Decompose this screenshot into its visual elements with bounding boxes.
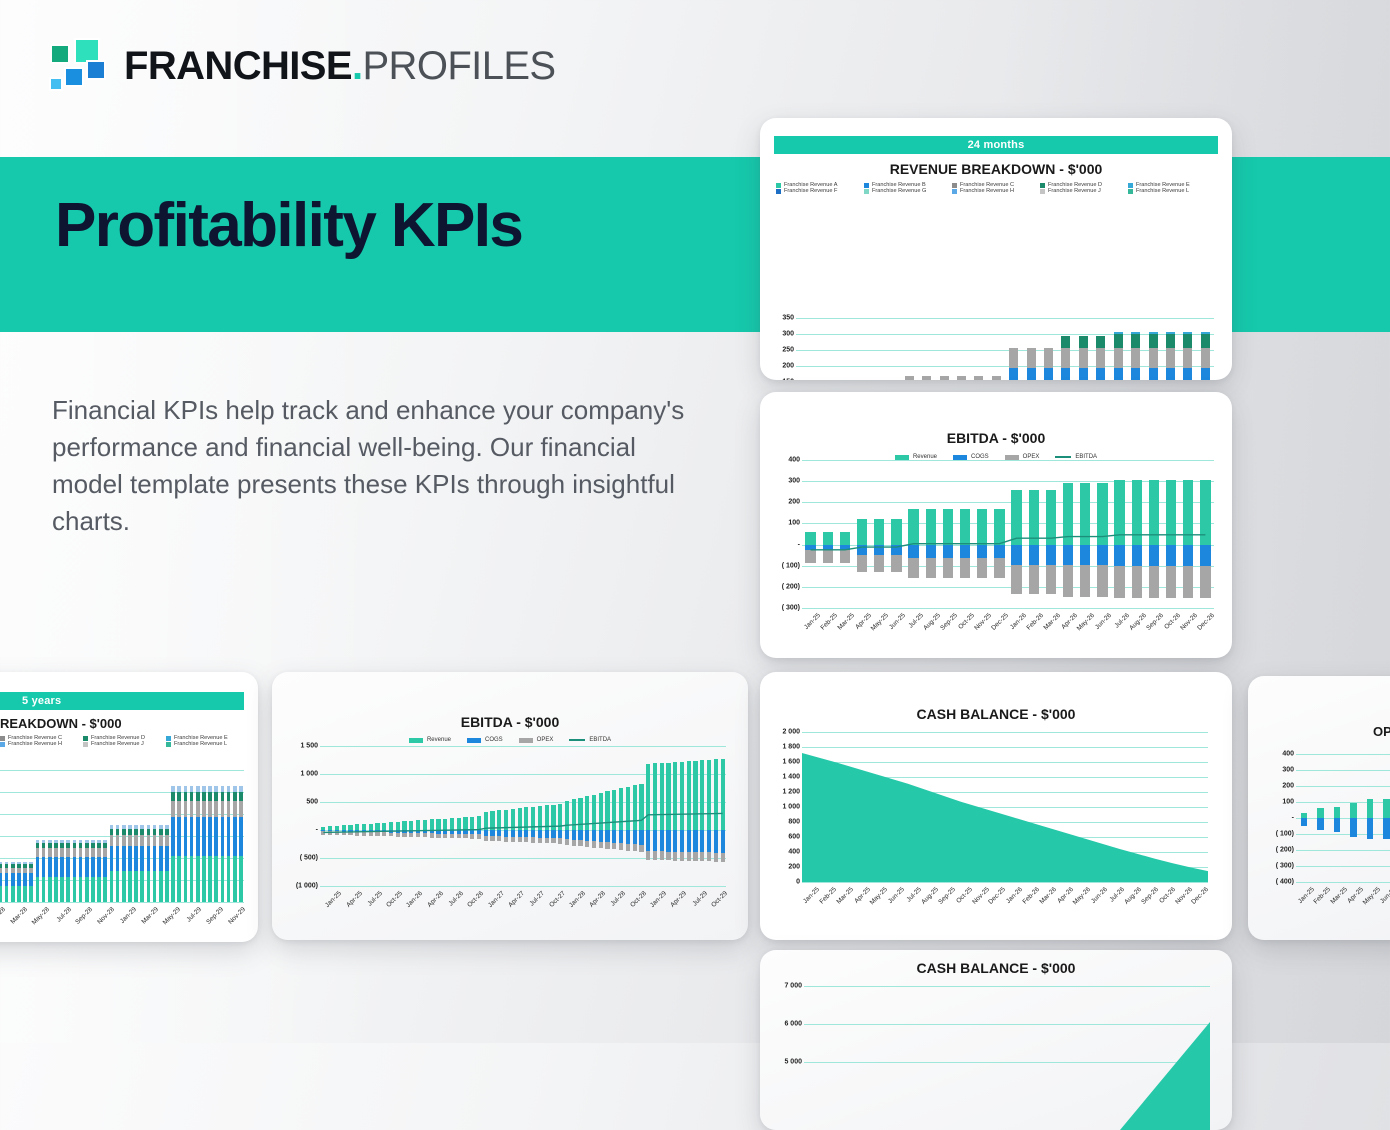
bar-revenue [605,791,609,830]
bar-segment [116,846,120,871]
bar-opex [1097,565,1107,597]
bar-revenue [497,810,501,830]
bar-opex [423,833,427,837]
bar-revenue [857,519,867,544]
bar-segment [190,817,194,855]
bar-segment [239,801,243,817]
bar-revenue [565,801,569,830]
bar-segment [122,871,126,902]
bar-segment [29,873,33,886]
bar-revenue [416,820,420,830]
bar-revenue [639,784,643,830]
bar-opex [321,831,325,835]
bar-segment [190,856,194,902]
gridline [802,852,1208,853]
legend-swatch [166,736,171,741]
bar-revenue [558,804,562,830]
bar-cogs [653,830,657,851]
bar-segment [48,843,52,848]
gridline [802,792,1208,793]
gridline [320,858,726,859]
bar-segment [1114,334,1123,348]
bar-cogs [565,830,569,839]
gridline [1296,770,1390,771]
bar-revenue [1029,490,1039,544]
bar-opex [633,844,637,851]
card-revenue-breakdown-5y[interactable]: 5 years REAKDOWN - $'000 Franchise Reven… [0,672,258,942]
bar-opex [369,832,373,836]
legend-swatch [895,455,909,460]
bar-segment [66,877,70,902]
bar-opex [355,832,359,836]
hero-description: Financial KPIs help track and enhance yo… [52,392,712,540]
bar-segment [42,840,46,843]
bar-opex [1200,566,1210,598]
bar-opex [572,840,576,846]
bar-opex [626,844,630,851]
bar-negative [1317,818,1324,830]
bar-opex [994,558,1004,578]
bar-segment [36,857,40,877]
bar-segment [128,829,132,835]
legend-swatch [864,189,869,194]
bar-segment [97,840,101,843]
legend-line-swatch [569,739,585,741]
bar-opex [524,837,528,842]
bar-segment [122,835,126,846]
bar-segment [208,817,212,855]
bar-segment [1009,348,1018,368]
bar-segment [128,846,132,871]
bar-cogs [994,545,1004,559]
bar-cogs [1183,545,1193,566]
bar-opex [874,555,884,572]
bar-revenue [1132,480,1142,544]
bar-segment [11,886,15,902]
bar-segment [239,817,243,855]
y-axis-tick: 150 [760,379,794,381]
bar-segment [103,848,107,857]
bar-segment [1044,368,1053,380]
bar-segment [85,840,89,843]
bar-cogs [633,830,637,844]
bar-positive [1383,799,1390,818]
y-axis-tick: 1 800 [760,744,800,751]
gridline [804,1024,1210,1025]
bar-cogs [857,545,867,555]
legend-label: Franchise Revenue L [1136,188,1189,194]
bar-segment [23,886,27,902]
bar-segment [29,886,33,902]
bar-segment [190,786,194,792]
bar-cogs [619,830,623,843]
bar-opex [1114,566,1124,598]
bar-opex [721,853,725,862]
y-axis-tick: 800 [760,819,800,826]
page-title: Profitability KPIs [55,195,522,257]
bar-cogs [943,545,953,559]
bar-cogs [551,830,555,838]
bar-cogs [926,545,936,559]
card-cash-balance-5y[interactable]: CASH BALANCE - $'000 7 0006 0005 000 [760,950,1232,1130]
bar-revenue [823,532,833,545]
brand-name-light: PROFILES [362,44,555,88]
bar-segment [1183,348,1192,368]
bar-opex [578,840,582,846]
bar-segment [1061,336,1070,348]
bar-cogs [1149,545,1159,566]
legend-label: OPEX [537,737,554,743]
bar-segment [128,871,132,902]
card-ebitda-5y[interactable]: EBITDA - $'000 Revenue COGS OPEX EBITDA … [272,672,748,940]
legend-label: Franchise Revenue J [1048,188,1101,194]
bar-segment [214,856,218,902]
bar-segment [227,786,231,792]
bar-segment [11,868,15,874]
bar-cogs [545,830,549,838]
bar-opex [463,834,467,838]
gridline [802,822,1208,823]
legend-swatch [519,738,533,743]
legend-swatch [0,742,5,747]
y-axis-tick: ( 200) [760,583,800,590]
bar-segment [184,817,188,855]
bar-segment [196,801,200,817]
bar-segment [54,857,58,877]
legend-label: Revenue [427,737,451,743]
bar-negative [1367,818,1374,839]
bar-revenue [619,788,623,830]
bar-opex [673,852,677,861]
bar-segment [42,848,46,857]
legend-swatch [1128,183,1133,188]
bar-segment [1044,348,1053,368]
bar-revenue [707,760,711,830]
bar-segment [221,801,225,817]
y-axis-tick: ( 100) [760,562,800,569]
bar-segment [1009,368,1018,380]
bar-segment [140,825,144,829]
bar-segment [60,848,64,857]
bar-revenue [592,795,596,830]
bar-positive [1334,807,1341,818]
bar-revenue [943,509,953,545]
bar-segment [171,801,175,817]
gridline [802,807,1208,808]
bar-cogs [874,545,884,555]
bar-opex [599,842,603,848]
bar-segment [140,846,144,871]
bar-segment [202,801,206,817]
chart-title-ebitda-5y: EBITDA - $'000 [272,714,748,730]
bar-opex [1166,566,1176,598]
bar-segment [227,801,231,817]
bar-segment [214,801,218,817]
bar-revenue [1166,480,1176,544]
bar-segment [73,857,77,877]
bar-segment [36,843,40,848]
gridline [804,1062,1210,1063]
bar-segment [23,864,27,867]
legend-label: Franchise Revenue H [960,188,1014,194]
bar-segment [79,857,83,877]
bar-opex [443,834,447,838]
bar-opex [666,852,670,861]
y-axis-tick: 0 [760,879,800,886]
bar-revenue [633,785,637,830]
legend-swatch [1128,189,1133,194]
legend-swatch [952,189,957,194]
bar-opex [490,836,494,841]
bar-segment [1096,368,1105,380]
bar-positive [1367,799,1374,818]
y-axis-tick: ( 300) [1254,863,1294,870]
gridline [320,830,726,831]
bar-opex [639,845,643,852]
legend-label: Franchise Revenue G [872,188,926,194]
bar-segment [54,843,58,848]
y-axis-tick: 200 [760,363,794,370]
bar-revenue [1097,483,1107,545]
card-opex-partial[interactable]: OPE 400300200100-( 100)( 200)( 300)( 400… [1248,676,1390,940]
bar-opex [382,832,386,836]
bar-opex [538,838,542,843]
bar-segment [66,857,70,877]
bar-segment [177,801,181,817]
bar-opex [1046,565,1056,594]
bar-opex [342,832,346,836]
bar-segment [165,829,169,835]
y-axis-tick: 1 500 [278,743,318,750]
y-axis-tick: 1 400 [760,774,800,781]
bar-segment [196,856,200,902]
legend-label: Franchise Revenue J [91,741,144,747]
gridline [802,882,1208,883]
bar-opex [592,841,596,847]
bar-cogs [538,830,542,838]
bar-segment [0,873,2,886]
bar-segment [128,835,132,846]
bar-revenue [1200,480,1210,544]
bar-segment [97,843,101,848]
bar-opex [693,852,697,861]
bar-segment [171,817,175,855]
bar-segment [60,840,64,843]
y-axis-tick: 300 [1254,767,1294,774]
bar-opex [409,833,413,837]
bar-segment [73,848,77,857]
y-axis-tick: 1 200 [760,789,800,796]
bar-opex [477,834,481,838]
bar-revenue [666,763,670,830]
bar-segment [1114,348,1123,368]
bar-revenue [457,818,461,830]
bar-segment [165,835,169,846]
bar-segment [171,856,175,902]
y-axis-tick: 200 [760,499,800,506]
bar-revenue [443,819,447,830]
bar-segment [134,825,138,829]
legend-label: Franchise Revenue H [8,741,62,747]
chart-title-cash-24m: CASH BALANCE - $'000 [760,706,1232,722]
bar-segment [17,886,21,902]
bar-segment [184,786,188,792]
y-axis-tick: - [278,827,318,834]
bar-cogs [700,830,704,852]
card-cash-balance-24m[interactable]: CASH BALANCE - $'000 2 0001 8001 6001 40… [760,672,1232,940]
y-axis-tick: ( 400) [1254,879,1294,886]
bar-segment [0,886,2,902]
bar-opex [1183,566,1193,598]
bar-segment [159,846,163,871]
bar-cogs [1011,545,1021,565]
bar-opex [612,843,616,850]
bar-segment [140,829,144,835]
y-axis-tick: 6 000 [762,1021,802,1028]
bar-cogs [511,830,515,837]
bar-negative [1350,818,1357,837]
bar-segment [0,862,2,864]
ribbon-24-months: 24 months [774,136,1218,154]
bar-cogs [531,830,535,837]
bar-segment [214,817,218,855]
bar-segment [177,786,181,792]
y-axis-tick: ( 100) [1254,831,1294,838]
bar-segment [1079,348,1088,368]
bar-segment [1061,368,1070,380]
bar-cogs [687,830,691,852]
bar-segment [66,840,70,843]
bar-opex [707,852,711,861]
bar-segment [221,786,225,792]
bar-segment [140,835,144,846]
brand-logo: FRANCHISE.PROFILES [46,38,556,94]
gridline [804,986,1210,987]
bar-cogs [1046,545,1056,565]
gridline [802,732,1208,733]
gridline [802,460,1214,461]
bar-revenue [1046,490,1056,544]
bar-segment [42,857,46,877]
bar-revenue [687,761,691,830]
bar-segment [79,840,83,843]
bar-segment [42,877,46,902]
bar-opex [926,558,936,578]
bar-segment [239,856,243,902]
bar-segment [196,792,200,801]
bar-opex [1063,565,1073,597]
y-axis-tick: 400 [760,849,800,856]
bar-cogs [599,830,603,842]
bar-segment [1166,368,1175,380]
gridline [320,746,726,747]
bar-segment [29,864,33,867]
cash-area [760,950,1232,1130]
bar-cogs [592,830,596,841]
bar-segment [134,829,138,835]
card-ebitda-24m[interactable]: EBITDA - $'000 Revenue COGS OPEX EBITDA … [760,392,1232,658]
bar-revenue [423,820,427,830]
bar-segment [1149,348,1158,368]
bar-segment [208,856,212,902]
bar-segment [165,871,169,902]
bar-segment [159,871,163,902]
bar-cogs [1200,545,1210,566]
bar-segment [239,792,243,801]
bar-segment [1201,332,1210,334]
bar-cogs [707,830,711,852]
bar-cogs [680,830,684,852]
gridline [0,770,244,771]
bar-revenue [1183,480,1193,544]
bar-opex [362,832,366,836]
bar-segment [60,857,64,877]
gridline [1296,850,1390,851]
bar-segment [91,848,95,857]
bar-opex [457,834,461,838]
bar-cogs [673,830,677,852]
bar-revenue [551,805,555,830]
bar-segment [1131,332,1140,334]
bar-segment [85,843,89,848]
bar-opex [430,833,434,837]
legend-swatch [776,189,781,194]
bar-segment [147,829,151,835]
bar-cogs [626,830,630,844]
legend-swatch [83,742,88,747]
bar-revenue [477,816,481,830]
bar-opex [497,836,501,841]
bar-cogs [666,830,670,852]
bar-revenue [484,812,488,830]
gridline [802,837,1208,838]
bar-revenue [926,509,936,545]
y-axis-tick: 1 000 [278,771,318,778]
bar-opex [857,555,867,572]
bar-segment [5,886,9,902]
bar-segment [122,846,126,871]
y-axis-tick: 300 [760,478,800,485]
bar-segment [116,871,120,902]
bar-opex [1132,566,1142,598]
card-revenue-breakdown-24m[interactable]: 24 months REVENUE BREAKDOWN - $'000 Fran… [760,118,1232,380]
bar-segment [153,835,157,846]
bar-opex [402,833,406,837]
bar-revenue [430,819,434,830]
bar-segment [60,843,64,848]
gridline [0,902,244,903]
bar-opex [450,834,454,838]
bar-revenue [1011,490,1021,544]
bar-revenue [700,760,704,830]
bar-revenue [891,519,901,544]
bar-revenue [908,509,918,545]
bar-segment [1131,348,1140,368]
bar-segment [122,829,126,835]
bar-revenue [599,793,603,830]
bar-segment [153,871,157,902]
bar-segment [1149,368,1158,380]
y-axis-tick: ( 300) [760,605,800,612]
bar-segment [1131,334,1140,348]
bar-revenue [518,808,522,830]
bar-segment [233,792,237,801]
bar-opex [328,831,332,835]
gridline [1296,834,1390,835]
bar-segment [1183,332,1192,334]
legend-label: COGS [485,737,503,743]
bar-opex [558,838,562,843]
